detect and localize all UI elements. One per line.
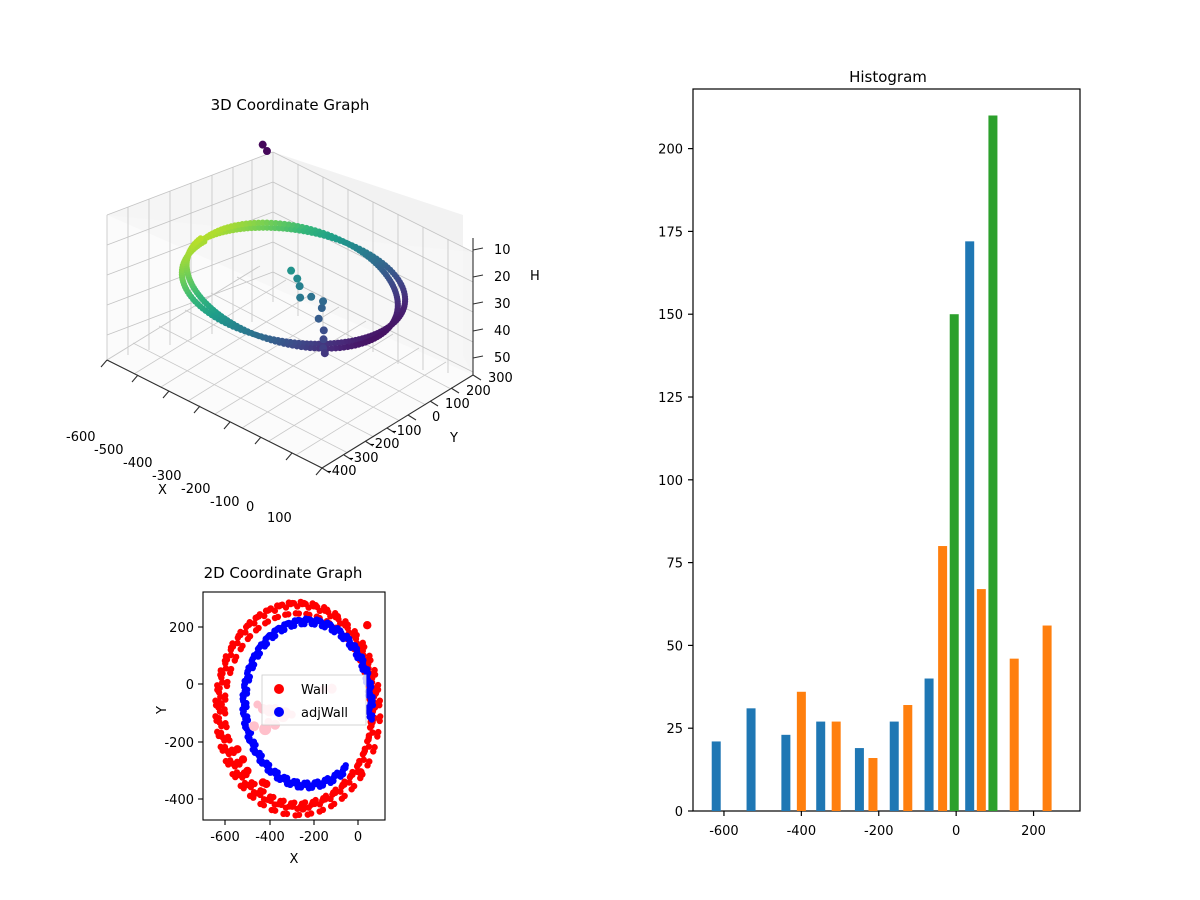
- plot2d-point: [366, 758, 372, 764]
- plot2d-xtick-2: -200: [299, 830, 329, 845]
- histogram-xtick-label: 0: [952, 824, 960, 839]
- plot2d-point: [296, 812, 302, 818]
- plot2d-point: [284, 811, 290, 817]
- plot2d-point: [260, 788, 266, 794]
- plot2d-point: [282, 612, 288, 618]
- plot2d-point: [341, 793, 347, 799]
- legend-label-wall: Wall: [301, 683, 328, 698]
- histogram-bar: [832, 722, 841, 811]
- plot3d-point: [319, 297, 327, 305]
- legend-marker-wall: [274, 684, 284, 694]
- plot3d-xtick-4: -200: [181, 482, 211, 497]
- plot2d-point: [261, 802, 267, 808]
- plot2d-point: [331, 801, 337, 807]
- plot2d-ytick-3: -400: [164, 793, 194, 808]
- plot2d-point: [371, 667, 377, 673]
- histogram-bar: [988, 115, 997, 811]
- plot3d-xtick-2: -400: [123, 456, 153, 471]
- plot2d-point: [356, 768, 364, 776]
- plot2d-point: [320, 807, 326, 813]
- plot3d-point: [315, 315, 323, 323]
- histogram-bar: [712, 741, 721, 811]
- plot3d-ztick-2: 30: [494, 297, 511, 312]
- histogram-bar: [747, 708, 756, 811]
- plot2d-point: [245, 636, 251, 642]
- plot2d-point: [227, 670, 233, 676]
- histogram-bar: [868, 758, 877, 811]
- plot2d-point: [226, 737, 232, 743]
- plot2d-point: [222, 710, 228, 716]
- plot2d-point: [293, 610, 299, 616]
- histogram-bar: [1010, 659, 1019, 811]
- legend-marker-adjwall: [274, 707, 284, 717]
- histogram-yticks: 0255075100125150175200: [658, 143, 693, 820]
- plot2d-point: [375, 729, 381, 735]
- plot3d-point: [320, 335, 328, 343]
- plot2d-xtick-1: -400: [255, 830, 285, 845]
- plot2d-point: [361, 757, 367, 763]
- histogram-bar: [938, 546, 947, 811]
- histogram-bar: [816, 722, 825, 811]
- plot3d-ylabel: Y: [449, 431, 458, 446]
- plot3d-ytick-7: -400: [327, 464, 357, 479]
- plot2d-point: [375, 682, 381, 688]
- plot2d-point: [217, 700, 225, 708]
- plot3d-panes: [107, 152, 473, 468]
- histogram-ytick-label: 25: [666, 722, 683, 737]
- plot2d-xtick-3: 0: [354, 830, 362, 845]
- plot3d-xtick-3: -300: [152, 469, 182, 484]
- histogram-axes-frame: [693, 89, 1080, 811]
- histogram-xticks: -600-400-2000200: [709, 811, 1046, 839]
- plot3d-ytick-0: 300: [488, 371, 513, 386]
- histogram-ytick-label: 75: [666, 557, 683, 572]
- plot2d-point: [280, 798, 286, 804]
- plot2d-point: [288, 801, 296, 809]
- plot3d-point: [197, 235, 203, 241]
- histogram-ytick-label: 200: [658, 143, 683, 158]
- plot2d-point: [262, 780, 270, 788]
- plot2d-point: [270, 794, 276, 800]
- plot3d-point: [296, 294, 304, 302]
- plot2d-ytick-1: 0: [186, 678, 194, 693]
- histogram-svg: Histogram 0255075100125150175200 -600-40…: [640, 60, 1120, 860]
- plot2d-point: [308, 810, 314, 816]
- matplotlib-figure: 3D Coordinate Graph: [0, 0, 1200, 900]
- plot2d-point: [232, 657, 238, 663]
- plot2d-point: [351, 783, 357, 789]
- plot2d-ylabel: Y: [155, 706, 170, 715]
- plot3d-xtick-6: 0: [246, 500, 254, 515]
- plot2d-point: [239, 755, 247, 763]
- plot3d-xtick-7: 100: [267, 511, 292, 526]
- plot3d-zlabel: H: [530, 269, 540, 284]
- plot3d-ztick-1: 20: [494, 270, 511, 285]
- plot2d-point: [272, 807, 278, 813]
- plot3d-xtick-0: -600: [66, 430, 96, 445]
- plot3d-point: [320, 326, 328, 334]
- plot3d-zticks: [473, 248, 483, 358]
- plot2d-point: [370, 702, 376, 708]
- plot3d-ztick-labels: 10 20 30 40 50: [494, 243, 511, 366]
- plot2d-point: [233, 745, 241, 753]
- plot2d-point: [262, 620, 268, 626]
- histogram-bar: [781, 735, 790, 811]
- plot2d-point: [224, 683, 230, 689]
- histogram-title: Histogram: [849, 68, 927, 86]
- plot3d-xtick-labels: -600 -500 -400 -300 -200 -100 0 100: [66, 430, 292, 526]
- histogram-bar: [890, 722, 899, 811]
- plot2d-ytick-0: 200: [169, 621, 194, 636]
- plot2d-point: [272, 615, 278, 621]
- histogram-xtick-label: -400: [787, 824, 817, 839]
- plot3d-xtick-1: -500: [94, 443, 124, 458]
- plot2d-point: [360, 640, 366, 646]
- plot3d-point: [307, 293, 315, 301]
- plot2d-point: [251, 781, 257, 787]
- histogram-bar: [903, 705, 912, 811]
- histogram-bar: [855, 748, 864, 811]
- plot2d-point: [363, 621, 371, 629]
- plot2d-point: [299, 804, 307, 812]
- plot2d-title: 2D Coordinate Graph: [204, 564, 363, 582]
- plot3d-ytick-2: 100: [445, 397, 470, 412]
- plot2d-point: [352, 628, 358, 634]
- histogram-bar: [950, 314, 959, 811]
- histogram-xtick-label: 200: [1021, 824, 1046, 839]
- histogram-ytick-label: 50: [666, 639, 683, 654]
- plot2d-point: [377, 697, 383, 703]
- plot2d-point: [238, 646, 244, 652]
- histogram-xtick-label: -600: [709, 824, 739, 839]
- plot2d-point: [343, 762, 349, 768]
- plot2d-point: [371, 744, 377, 750]
- plot3d-title: 3D Coordinate Graph: [211, 96, 370, 114]
- plot2d-xlabel: X: [290, 852, 299, 867]
- histogram-bar: [797, 692, 806, 811]
- panel-2d-coordinate-graph: 2D Coordinate Graph 200 0 -200 -400: [150, 555, 480, 885]
- plot3d-ztick-3: 40: [494, 324, 511, 339]
- plot3d-xlabel: X: [158, 483, 167, 498]
- plot3d-ytick-5: -200: [370, 437, 400, 452]
- plot3d-point: [287, 267, 295, 275]
- plot3d-ytick-3: 0: [432, 410, 440, 425]
- plot2d-legend[interactable]: Wall adjWall: [262, 675, 366, 725]
- plot3d-point: [318, 304, 326, 312]
- histogram-ytick-label: 150: [658, 308, 683, 323]
- plot3d-ztick-4: 50: [494, 351, 511, 366]
- plot2d-point: [243, 767, 251, 775]
- plot2d-xticks: [225, 820, 358, 825]
- plot2d-point: [249, 721, 259, 731]
- histogram-ytick-label: 0: [675, 805, 683, 820]
- plot2d-point: [223, 724, 229, 730]
- plot3d-xtick-5: -100: [210, 495, 240, 510]
- plot3d-point: [293, 275, 301, 283]
- histogram-ytick-label: 175: [658, 225, 683, 240]
- plot2d-point: [377, 713, 383, 719]
- histogram-bar: [1043, 626, 1052, 811]
- plot2d-yticks: [198, 627, 203, 799]
- panel-histogram: Histogram 0255075100125150175200 -600-40…: [640, 60, 1120, 860]
- plot2d-point: [366, 653, 372, 659]
- plot2d-svg: 2D Coordinate Graph 200 0 -200 -400: [150, 555, 480, 885]
- plot2d-ytick-2: -200: [164, 736, 194, 751]
- plot2d-point: [252, 615, 258, 621]
- plot3d-point: [259, 141, 267, 149]
- histogram-ytick-label: 125: [658, 391, 683, 406]
- histogram-ytick-label: 100: [658, 474, 683, 489]
- histogram-bar: [965, 241, 974, 811]
- plot2d-point: [253, 627, 259, 633]
- plot2d-point: [243, 624, 249, 630]
- plot3d-point: [296, 282, 304, 290]
- plot3d-point: [321, 349, 329, 357]
- plot2d-xtick-labels: -600 -400 -200 0: [210, 830, 362, 845]
- legend-label-adjwall: adjWall: [301, 706, 348, 721]
- plot2d-xtick-0: -600: [210, 830, 240, 845]
- histogram-bar: [925, 679, 934, 811]
- histogram-xtick-label: -200: [864, 824, 894, 839]
- histogram-bar: [977, 589, 986, 811]
- plot3d-svg: 3D Coordinate Graph: [60, 70, 620, 520]
- panel-3d-coordinate-graph: 3D Coordinate Graph: [60, 70, 620, 520]
- plot3d-ztick-0: 10: [494, 243, 511, 258]
